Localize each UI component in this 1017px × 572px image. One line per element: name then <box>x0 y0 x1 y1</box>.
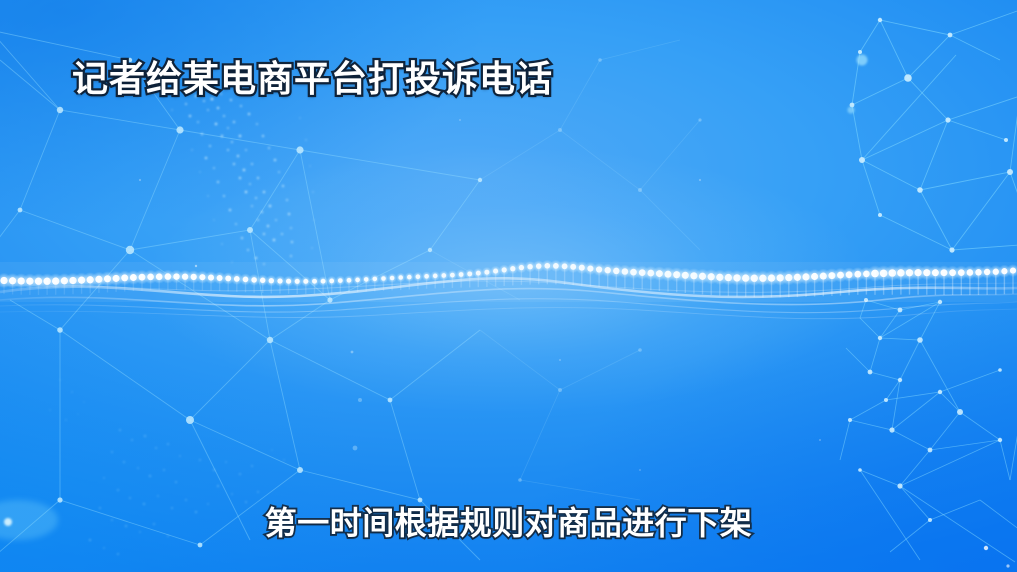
video-frame: 记者给某电商平台打投诉电话 第一时间根据规则对商品进行下架 <box>0 0 1017 572</box>
page-title: 记者给某电商平台打投诉电话 <box>72 50 553 102</box>
subtitle-caption: 第一时间根据规则对商品进行下架 <box>0 498 1017 544</box>
